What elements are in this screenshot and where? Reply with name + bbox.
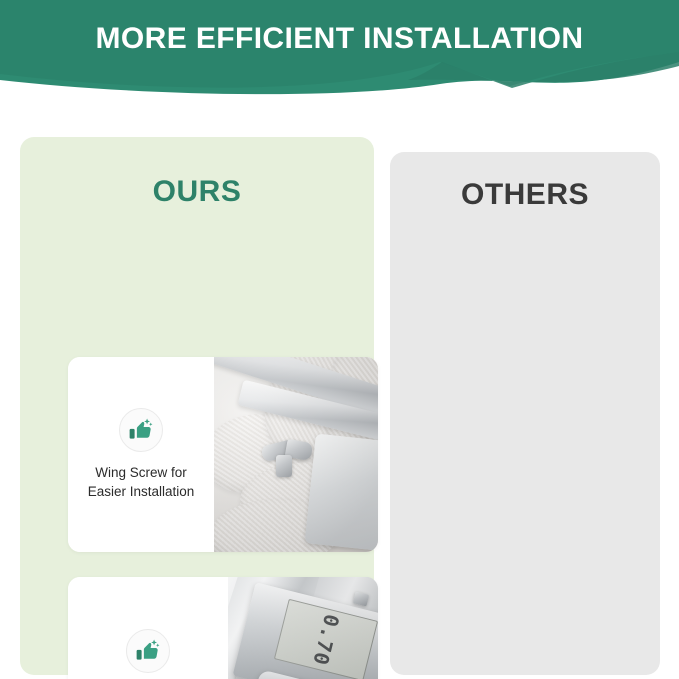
thumbs-up-icon [128,417,154,443]
header-banner: MORE EFFICIENT INSTALLATION [0,0,679,100]
others-heading: OTHERS [390,178,660,212]
ours-card-steel-sheet[interactable]: 0.7MM Thickened Galvanized Steel Sheet 0… [68,577,378,679]
gloved-hands-wing-screw-photo [214,357,378,552]
ours-heading: OURS [20,175,374,209]
ours-card-1-caption: Wing Screw for Easier Installation [88,464,195,500]
panel-others: OTHERS Not Easy to Install [390,152,660,675]
thumbs-up-icon [135,638,161,664]
ours-card-1-caption-block: Wing Screw for Easier Installation [68,357,214,552]
thumbs-up-badge [119,408,163,452]
ours-card-wing-screw[interactable]: Wing Screw for Easier Installation [68,357,378,552]
caliper-reading-ours: 0.70 [308,612,344,668]
caliper-measuring-duct-photo: 0.70 [228,577,378,679]
page-title: MORE EFFICIENT INSTALLATION [0,22,679,56]
ours-card-2-caption-block: 0.7MM Thickened Galvanized Steel Sheet [68,577,228,679]
infographic-root: MORE EFFICIENT INSTALLATION OURS Wing Sc… [0,0,679,679]
panel-ours: OURS Wing Screw for Easier Installation [20,137,374,675]
thumbs-up-badge [126,629,170,673]
